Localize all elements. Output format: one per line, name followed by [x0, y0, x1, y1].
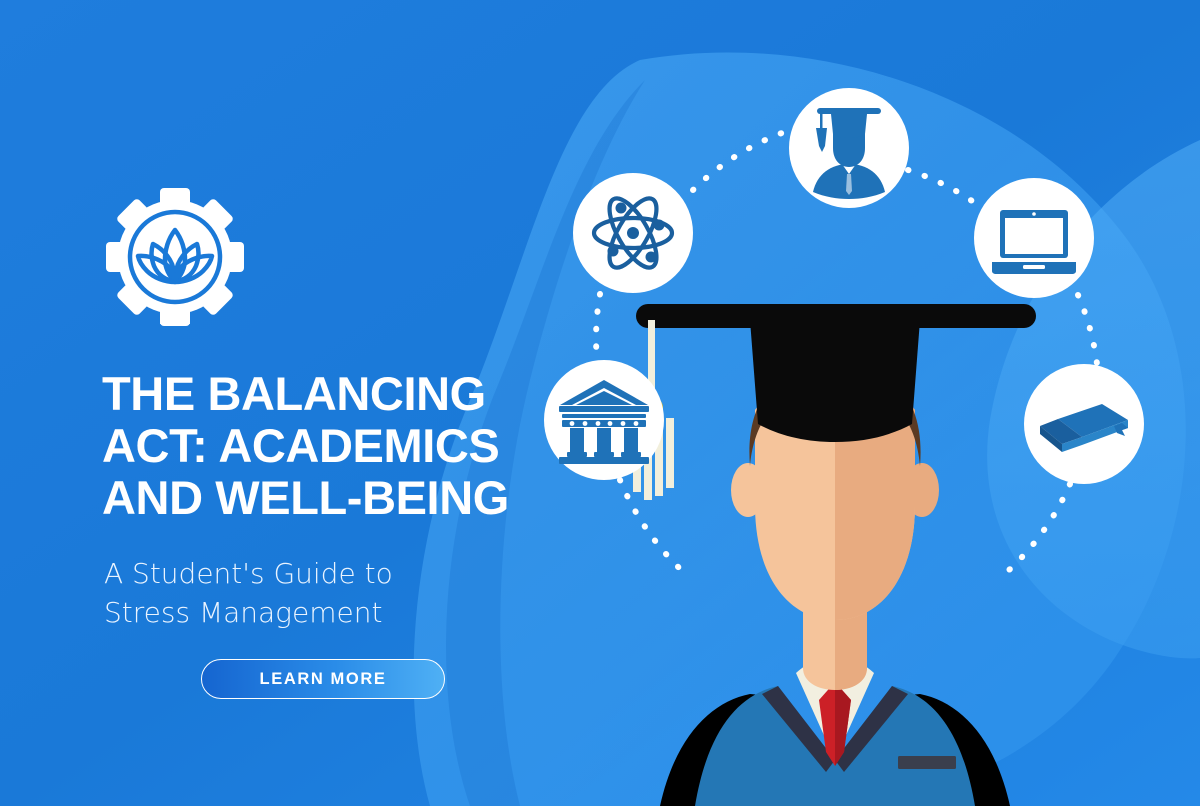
title-line-1: THE BALANCING	[102, 368, 562, 420]
learn-more-label: LEARN MORE	[260, 670, 387, 689]
title-line-3: AND WELL-BEING	[102, 472, 562, 524]
graduate-student-illustration	[600, 290, 1070, 806]
pocket-bar	[898, 756, 956, 769]
arc-laptop-book	[1078, 295, 1097, 364]
gear-lotus-logo	[100, 182, 250, 332]
learn-more-button[interactable]: LEARN MORE	[201, 659, 445, 699]
title-line-2: ACT: ACADEMICS	[102, 420, 562, 472]
arc-atom-graduate	[693, 130, 790, 190]
icon-node-book[interactable]	[1024, 364, 1144, 484]
page-subtitle: A Student's Guide to Stress Management	[104, 554, 524, 632]
icon-node-atom[interactable]	[573, 173, 693, 293]
icon-node-laptop[interactable]	[974, 178, 1094, 298]
icon-node-building[interactable]	[544, 360, 664, 480]
cap-crown	[750, 320, 920, 442]
arc-graduate-laptop	[908, 170, 982, 208]
text-column: THE BALANCING ACT: ACADEMICS AND WELL-BE…	[100, 0, 560, 806]
subtitle-line-1: A Student's Guide to	[104, 554, 524, 593]
laptop-icon	[992, 210, 1076, 274]
page-title: THE BALANCING ACT: ACADEMICS AND WELL-BE…	[102, 368, 562, 524]
icon-node-graduate[interactable]	[789, 88, 909, 208]
cap-board	[636, 304, 1036, 328]
banner-root: THE BALANCING ACT: ACADEMICS AND WELL-BE…	[0, 0, 1200, 806]
subtitle-line-2: Stress Management	[104, 593, 524, 632]
gear-icon	[106, 188, 244, 326]
